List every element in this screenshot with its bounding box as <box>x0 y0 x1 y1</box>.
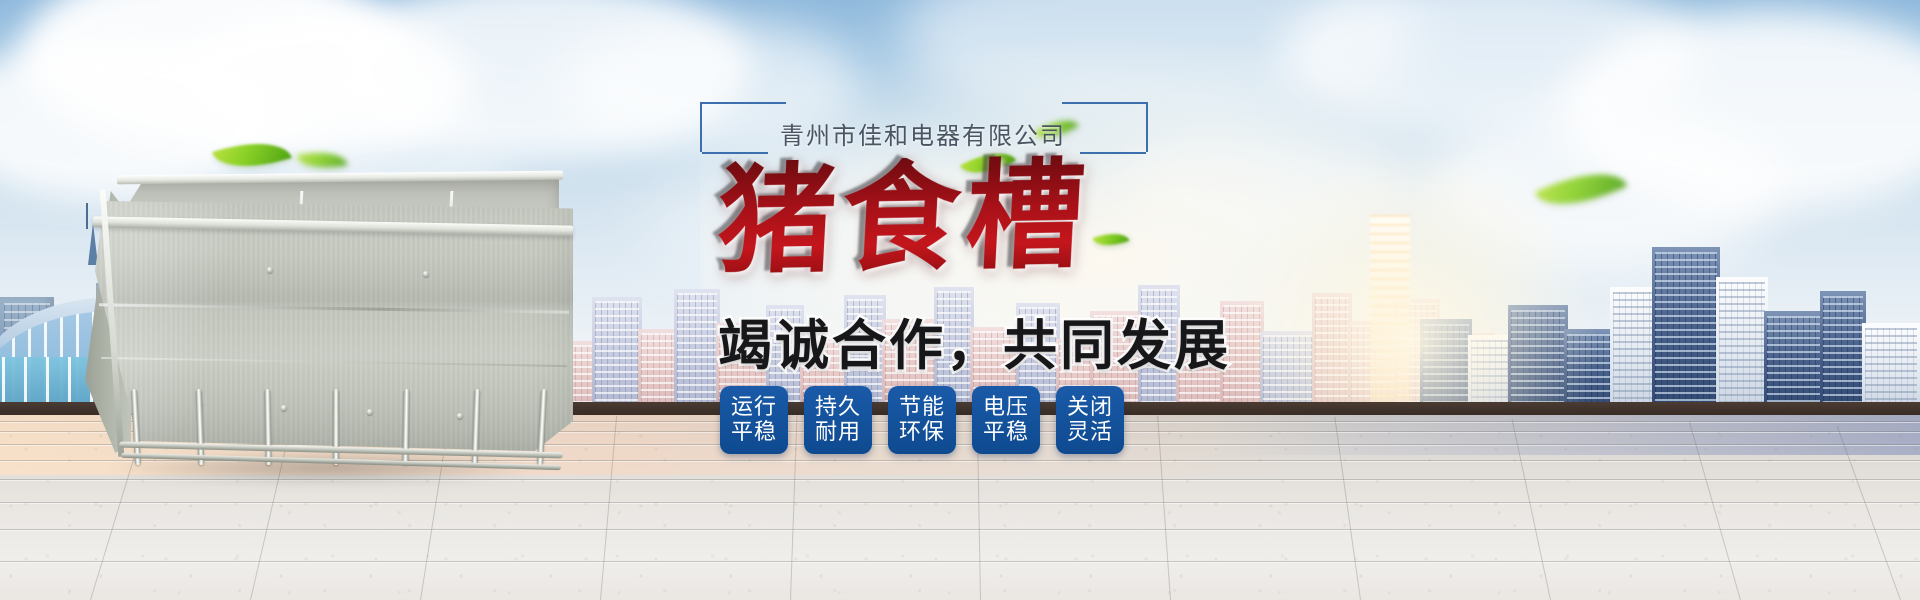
trough-divider-bars <box>125 383 555 465</box>
rivet <box>267 267 273 273</box>
feature-badge[interactable]: 节能 环保 <box>888 386 956 454</box>
badge-line-1: 节能 <box>899 395 945 420</box>
banner-text-block: 青州市佳和电器有限公司 猪食槽 猪食槽 竭诚合作，共同发展 运行 平稳 持久 耐… <box>700 96 1420 556</box>
badge-line-2: 平稳 <box>731 420 777 445</box>
building <box>1764 311 1824 415</box>
badge-line-2: 平稳 <box>983 420 1029 445</box>
badge-line-2: 环保 <box>899 420 945 445</box>
badge-line-2: 耐用 <box>815 420 861 445</box>
building <box>1610 287 1656 415</box>
page-title: 猪食槽 <box>715 155 1094 285</box>
promo-banner: 青州市佳和电器有限公司 猪食槽 猪食槽 竭诚合作，共同发展 运行 平稳 持久 耐… <box>0 0 1920 600</box>
feature-badge[interactable]: 运行 平稳 <box>720 386 788 454</box>
building <box>592 297 642 415</box>
building <box>1508 305 1568 415</box>
feature-badge-list: 运行 平稳 持久 耐用 节能 环保 电压 平稳 关闭 灵活 <box>720 386 1124 454</box>
building <box>1420 319 1472 415</box>
badge-line-1: 持久 <box>815 395 861 420</box>
badge-line-2: 灵活 <box>1067 420 1113 445</box>
feature-badge[interactable]: 电压 平稳 <box>972 386 1040 454</box>
feature-badge[interactable]: 持久 耐用 <box>804 386 872 454</box>
badge-line-1: 运行 <box>731 395 777 420</box>
right-city-skyline <box>1360 215 1920 415</box>
company-name: 青州市佳和电器有限公司 <box>758 116 1088 151</box>
product-image-pig-feeder-trough <box>85 165 575 475</box>
building <box>1652 247 1720 415</box>
building <box>1820 291 1866 415</box>
rivet <box>423 271 429 277</box>
badge-line-1: 关闭 <box>1067 395 1113 420</box>
badge-line-1: 电压 <box>983 395 1029 420</box>
feature-badge[interactable]: 关闭 灵活 <box>1056 386 1124 454</box>
slogan: 竭诚合作，共同发展 <box>718 301 1231 380</box>
building <box>1716 277 1768 415</box>
